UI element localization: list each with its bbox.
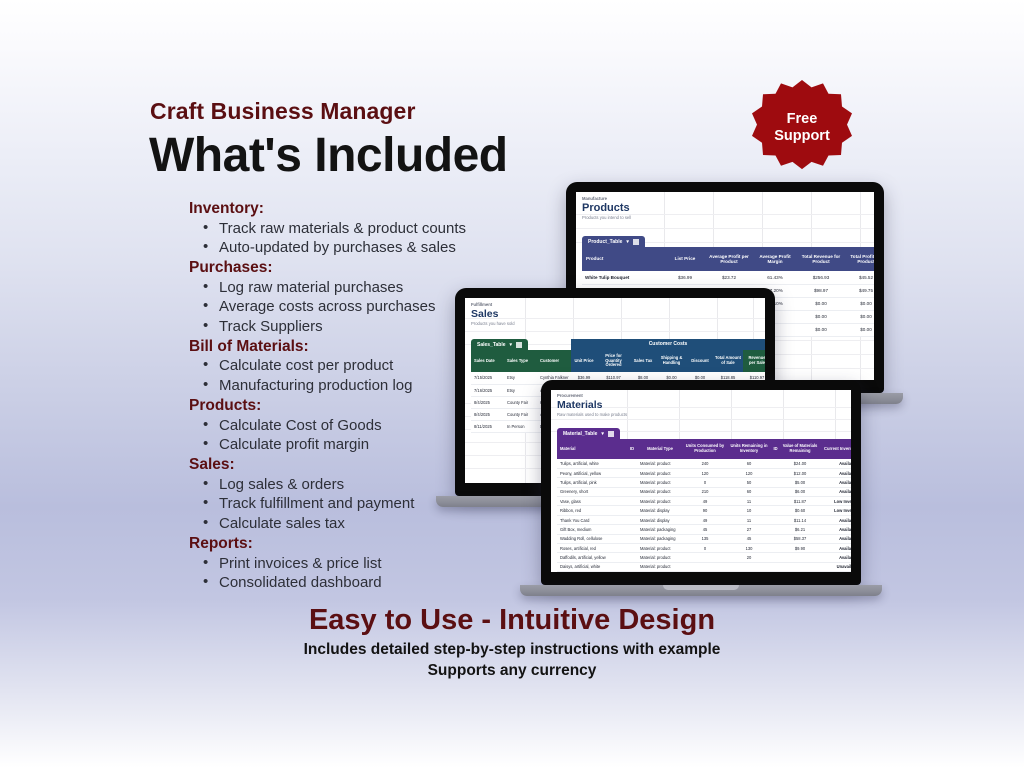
cell-id (627, 487, 637, 496)
cell-value-remaining: $24.00 (780, 459, 820, 468)
cell-units-consumed: 49 (683, 515, 727, 524)
page-title: What's Included (149, 128, 508, 183)
cell-value-remaining: $12.00 (780, 468, 820, 477)
sheet-subtitle: Products you have sold (471, 321, 515, 326)
cell-id (771, 497, 780, 506)
cell-material-type: Material: display (637, 506, 683, 515)
feature-group-heading: Reports: (189, 534, 549, 554)
cell-material-type: Material: packaging (637, 525, 683, 534)
cell-value-remaining (780, 562, 820, 571)
table-row: Daffodils, artificial, yellowMaterial: p… (557, 553, 851, 562)
table-row: Thank You CardMaterial: display4911$11.1… (557, 515, 851, 524)
cell-avg-profit: $23.72 (706, 271, 752, 284)
table-header-row: Sales Date Sales Type Customer Unit Pric… (471, 350, 765, 372)
table-row: Gift Box, mediumMaterial: packaging4527$… (557, 525, 851, 534)
cell-units-remaining: 120 (727, 468, 771, 477)
table-row: Roses, artificial, redMaterial: product0… (557, 544, 851, 553)
tab-label: Product_Table (588, 239, 622, 245)
cell-value-remaining: $6.21 (780, 525, 820, 534)
column-header[interactable]: ID (771, 439, 780, 459)
cell-units-remaining: 45 (727, 534, 771, 543)
cell-material-type: Material: product (637, 497, 683, 506)
breadcrumb: Procurement (557, 393, 627, 398)
cell-sales-date: 7/15/2025 (471, 372, 504, 384)
chevron-down-icon[interactable]: ▾ (510, 342, 513, 348)
cell-inventory-status: Low Inventory (820, 497, 851, 506)
materials-table: Material ID Material Type Units Consumed… (557, 439, 851, 572)
cell-sales-date: 8/4/2025 (471, 396, 504, 408)
chevron-down-icon[interactable]: ▾ (601, 431, 604, 437)
column-header[interactable]: Value of Materials Remaining (780, 439, 820, 459)
cell-value-remaining: $9.90 (780, 544, 820, 553)
tab-label: Material_Table (563, 431, 597, 437)
feature-group-items: Print invoices & price list Consolidated… (189, 554, 549, 594)
cell-material: Peony, artificial, yellow (557, 468, 627, 477)
cell-units-remaining: 60 (727, 487, 771, 496)
sheet-title: Sales (471, 308, 515, 320)
table-tab-sales[interactable]: Sales_Table ▾ (471, 339, 528, 350)
table-row: Peony, artificial, yellowMaterial: produ… (557, 468, 851, 477)
cell-id (771, 534, 780, 543)
cell-id (771, 562, 780, 571)
materials-spreadsheet: Procurement Materials Raw materials used… (551, 390, 851, 572)
cell-material: Daisys, artificial, white (557, 562, 627, 571)
cell-units-consumed: 0 (683, 478, 727, 487)
cell-total-revenue: $256.93 (798, 271, 844, 284)
cell-material: Vase, glass (557, 497, 627, 506)
cell-id (771, 506, 780, 515)
cell-material: Tulips, artificial, white (557, 459, 627, 468)
column-header[interactable]: Discount (687, 350, 713, 372)
cell-total-revenue: $0.00 (798, 323, 844, 336)
badge-line-2: Support (774, 128, 830, 146)
badge-text: Free Support (752, 80, 852, 178)
cell-units-remaining: 11 (727, 497, 771, 506)
sheet-subtitle: Raw materials used to make products (557, 412, 627, 417)
cell-sales-type: County Fair (504, 396, 537, 408)
cell-units-consumed: 240 (683, 459, 727, 468)
sheet-header: Manufacture Products Products you intend… (582, 196, 631, 220)
cell-inventory-status: Available (820, 487, 851, 496)
cell-value-remaining: $11.87 (780, 497, 820, 506)
cell-id (627, 468, 637, 477)
free-support-badge: Free Support (752, 80, 852, 178)
footer-tagline: Easy to Use - Intuitive Design (0, 604, 1024, 637)
table-row: Tulips, artificial, whiteMaterial: produ… (557, 459, 851, 468)
cell-units-remaining: 11 (727, 515, 771, 524)
kicker-title: Craft Business Manager (150, 98, 416, 125)
cell-product: White Tulip Bouquet (582, 271, 664, 284)
cell-value-remaining: $58.37 (780, 534, 820, 543)
cell-inventory-status: Available (820, 478, 851, 487)
table-header-row: Material ID Material Type Units Consumed… (557, 439, 851, 459)
cell-id (771, 515, 780, 524)
table-row: Wadding Roll, celluloseMaterial: packagi… (557, 534, 851, 543)
cell-id (627, 525, 637, 534)
cell-units-consumed (683, 562, 727, 571)
cell-total-profit: $49.75 (844, 284, 874, 297)
cell-total-profit: $0.00 (844, 310, 874, 323)
cell-total-revenue: $0.00 (798, 297, 844, 310)
breadcrumb: Fulfillment (471, 302, 515, 307)
column-header[interactable]: Product (582, 247, 664, 271)
cell-sales-type: Etsy (504, 384, 537, 396)
cell-units-remaining: 60 (727, 459, 771, 468)
cell-units-consumed: 49 (683, 497, 727, 506)
cell-avg-margin: 61.43% (752, 271, 798, 284)
cell-units-remaining: 10 (727, 506, 771, 515)
cell-material-type: Material: product (637, 562, 683, 571)
cell-inventory-status: Low Inventory (820, 506, 851, 515)
cell-list-price: $36.99 (664, 271, 706, 284)
cell-units-remaining: 20 (727, 553, 771, 562)
cell-id (771, 553, 780, 562)
cell-material: Ribbon, red (557, 506, 627, 515)
column-header[interactable]: Total Profit for Product (844, 247, 874, 271)
list-item: Consolidated dashboard (189, 573, 549, 593)
cell-total-profit: $0.00 (844, 297, 874, 310)
cell-units-consumed: 120 (683, 468, 727, 477)
cell-value-remaining: $0.60 (780, 506, 820, 515)
cell-material: Tulips, artificial, pink (557, 478, 627, 487)
column-header[interactable]: List Price (664, 247, 706, 271)
chevron-down-icon[interactable]: ▾ (626, 239, 629, 245)
column-header[interactable]: Unit Price (571, 350, 597, 372)
cell-sales-type: County Fair (504, 408, 537, 420)
cell-value-remaining: $5.00 (780, 478, 820, 487)
cell-id (771, 468, 780, 477)
column-header[interactable]: Price for Quantity Ordered (597, 350, 630, 372)
cell-material-type: Material: packaging (637, 534, 683, 543)
cell-material-type: Material: product (637, 468, 683, 477)
column-header[interactable]: Customer (537, 350, 571, 372)
column-header[interactable]: Material (557, 439, 627, 459)
feature-group-items: Track raw materials & product counts Aut… (189, 219, 549, 259)
column-header[interactable]: Units Consumed by Production (683, 439, 727, 459)
laptop-materials: Procurement Materials Raw materials used… (541, 380, 861, 596)
table-options-icon[interactable] (608, 431, 614, 437)
table-tab-products[interactable]: Product_Table ▾ (582, 236, 645, 247)
cell-id (771, 487, 780, 496)
cell-units-remaining (727, 562, 771, 571)
cell-material: Roses, artificial, red (557, 544, 627, 553)
cell-material-type: Material: product (637, 544, 683, 553)
column-header[interactable]: Total Amount of Sale (713, 350, 743, 372)
column-header[interactable]: Sales Tax (630, 350, 656, 372)
cell-id (771, 525, 780, 534)
table-row: Daisys, artificial, whiteMaterial: produ… (557, 562, 851, 571)
sheet-title: Products (582, 202, 631, 214)
cell-inventory-status: Available (820, 468, 851, 477)
cell-id (627, 515, 637, 524)
cell-id (627, 553, 637, 562)
column-header[interactable]: ID (627, 439, 637, 459)
column-header[interactable]: Average Profit per Product (706, 247, 752, 271)
list-item: Track raw materials & product counts (189, 219, 549, 239)
cell-units-consumed: 45 (683, 525, 727, 534)
cell-inventory-status: Available (820, 534, 851, 543)
laptop-screen: Procurement Materials Raw materials used… (551, 390, 851, 572)
cell-material-type: Material: product (637, 459, 683, 468)
cell-sales-date: 8/4/2025 (471, 408, 504, 420)
cell-inventory-status: Available (820, 544, 851, 553)
laptop-notch (663, 585, 739, 590)
table-row: Vase, glassMaterial: product4911$11.87Lo… (557, 497, 851, 506)
table-row: Greenery, shortMaterial: product21060$6.… (557, 487, 851, 496)
footer-line-3: Supports any currency (0, 660, 1024, 681)
cell-material: Greenery, short (557, 487, 627, 496)
cell-total-profit: $0.00 (844, 323, 874, 336)
table-options-icon[interactable] (516, 342, 522, 348)
feature-group-heading: Purchases: (189, 258, 549, 278)
cell-id (627, 478, 637, 487)
list-item: Auto-updated by purchases & sales (189, 238, 549, 258)
sheet-header: Fulfillment Sales Products you have sold (471, 302, 515, 326)
cell-sales-date: 7/16/2025 (471, 384, 504, 396)
table-row: Ribbon, redMaterial: display9010$0.60Low… (557, 506, 851, 515)
cell-units-remaining: 27 (727, 525, 771, 534)
materials-table-body: Tulips, artificial, whiteMaterial: produ… (557, 459, 851, 572)
table-tab-materials[interactable]: Material_Table ▾ (557, 428, 620, 439)
column-header[interactable]: Sales Date (471, 350, 504, 372)
cell-value-remaining: $6.00 (780, 487, 820, 496)
list-item: Calculate sales tax (189, 514, 549, 534)
cell-units-consumed (683, 553, 727, 562)
cell-id (627, 544, 637, 553)
customer-costs-group-header: Customer Costs (571, 339, 765, 350)
cell-material: Gift Box, medium (557, 525, 627, 534)
tab-label: Sales_Table (477, 342, 506, 348)
table-options-icon[interactable] (633, 239, 639, 245)
cell-units-consumed: 90 (683, 506, 727, 515)
cell-material: Daffodils, artificial, yellow (557, 553, 627, 562)
breadcrumb: Manufacture (582, 196, 631, 201)
cell-material-type: Material: product (637, 478, 683, 487)
column-header[interactable]: Average Profit Margin (752, 247, 798, 271)
cell-inventory-status: Available (820, 525, 851, 534)
cell-id (627, 459, 637, 468)
column-header[interactable]: Total Revenue for Product (798, 247, 844, 271)
footer-subtext: Includes detailed step-by-step instructi… (0, 639, 1024, 681)
feature-group-heading: Inventory: (189, 199, 549, 219)
cell-value-remaining (780, 553, 820, 562)
cell-sales-type: Etsy (504, 372, 537, 384)
laptop-base (520, 585, 882, 596)
cell-units-remaining: 130 (727, 544, 771, 553)
cell-total-profit: $45.52 (844, 271, 874, 284)
table-row: White Tulip Bouquet $36.99 $23.72 61.43%… (582, 271, 874, 284)
cell-material-type: Material: product (637, 553, 683, 562)
cell-total-revenue: $0.00 (798, 310, 844, 323)
table-row: Tulips, artificial, pinkMaterial: produc… (557, 478, 851, 487)
laptop-lid: Procurement Materials Raw materials used… (541, 380, 861, 585)
cell-units-remaining: 50 (727, 478, 771, 487)
column-header[interactable]: Sales Type (504, 350, 537, 372)
cell-sales-date: 8/11/2025 (471, 420, 504, 432)
cell-total-revenue: $98.97 (798, 284, 844, 297)
cell-material-type: Material: display (637, 515, 683, 524)
cell-id (627, 506, 637, 515)
cell-material-type: Material: product (637, 487, 683, 496)
cell-inventory-status: Available (820, 515, 851, 524)
footer-line-2: Includes detailed step-by-step instructi… (0, 639, 1024, 660)
cell-id (627, 562, 637, 571)
cell-units-consumed: 135 (683, 534, 727, 543)
cell-id (771, 459, 780, 468)
cell-id (627, 534, 637, 543)
cell-units-consumed: 0 (683, 544, 727, 553)
list-item: Print invoices & price list (189, 554, 549, 574)
column-header[interactable]: Material Type (637, 439, 683, 459)
cell-id (771, 544, 780, 553)
column-header[interactable]: Revenue per Sale (743, 350, 765, 372)
cell-material: Thank You Card (557, 515, 627, 524)
column-header[interactable]: Units Remaining in Inventory (727, 439, 771, 459)
cell-units-consumed: 210 (683, 487, 727, 496)
column-header[interactable]: Current Inventory Status (820, 439, 851, 459)
badge-line-1: Free (787, 111, 818, 129)
cell-inventory-status: Unavailable (820, 562, 851, 571)
cell-inventory-status: Available (820, 459, 851, 468)
cell-value-remaining: $11.14 (780, 515, 820, 524)
table-header-row: Product List Price Average Profit per Pr… (582, 247, 874, 271)
cell-sales-type: In Person (504, 420, 537, 432)
column-header[interactable]: Shipping & Handling (656, 350, 687, 372)
sheet-header: Procurement Materials Raw materials used… (557, 393, 627, 417)
sheet-subtitle: Products you intend to sell (582, 215, 631, 220)
cell-inventory-status: Available (820, 553, 851, 562)
cell-id (771, 478, 780, 487)
cell-material: Wadding Roll, cellulose (557, 534, 627, 543)
cell-id (627, 497, 637, 506)
sheet-title: Materials (557, 399, 627, 411)
